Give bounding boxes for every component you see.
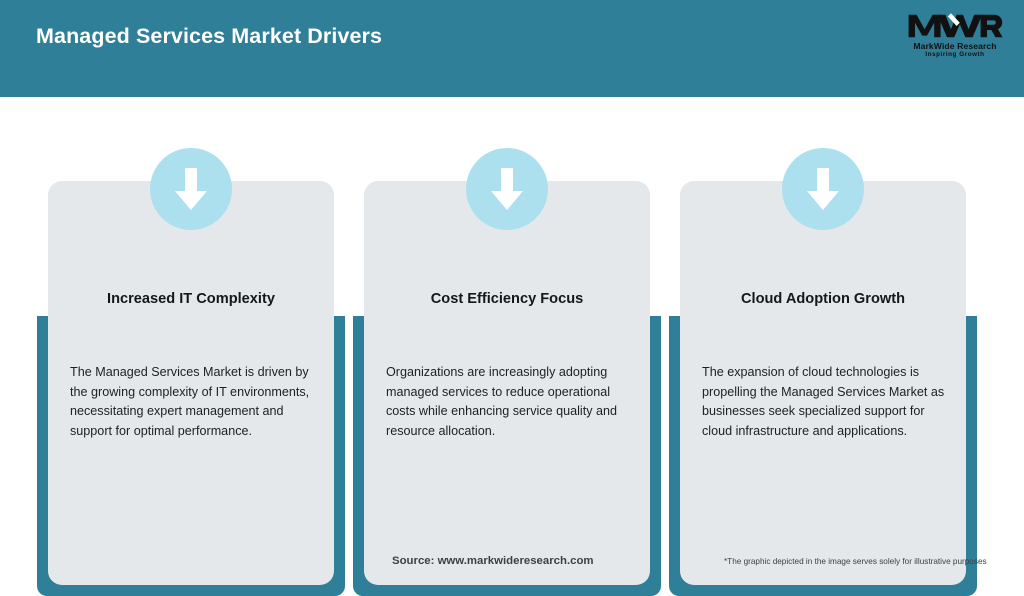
footer-disclaimer: *The graphic depicted in the image serve… [724, 557, 987, 566]
footer-source: Source: www.markwideresearch.com [392, 555, 594, 567]
card-title: Increased IT Complexity [64, 290, 318, 308]
down-arrow-icon [466, 148, 548, 230]
card-panel: Cloud Adoption Growth The expansion of c… [680, 181, 966, 585]
driver-card-3[interactable]: Cloud Adoption Growth The expansion of c… [669, 148, 977, 596]
card-body-text: The expansion of cloud technologies is p… [702, 363, 950, 441]
card-body-text: Organizations are increasingly adopting … [386, 363, 634, 441]
card-body-text: The Managed Services Market is driven by… [70, 363, 318, 441]
driver-card-2[interactable]: Cost Efficiency Focus Organizations are … [353, 148, 661, 596]
logo-tagline: Inspiring Growth [925, 51, 984, 59]
logo-company-name: MarkWide Research [913, 41, 996, 51]
card-title: Cloud Adoption Growth [696, 290, 950, 308]
down-arrow-glyph [804, 166, 842, 212]
driver-cards-container: Increased IT Complexity The Managed Serv… [0, 97, 1024, 576]
card-panel: Increased IT Complexity The Managed Serv… [48, 181, 334, 585]
card-panel: Cost Efficiency Focus Organizations are … [364, 181, 650, 585]
brand-logo: MarkWide Research Inspiring Growth [902, 11, 1008, 63]
down-arrow-glyph [488, 166, 526, 212]
down-arrow-icon [150, 148, 232, 230]
header-band: Managed Services Market Drivers MarkWide… [0, 0, 1024, 97]
down-arrow-glyph [172, 166, 210, 212]
page-title: Managed Services Market Drivers [36, 24, 382, 49]
driver-card-1[interactable]: Increased IT Complexity The Managed Serv… [37, 148, 345, 596]
card-title: Cost Efficiency Focus [380, 290, 634, 308]
down-arrow-icon [782, 148, 864, 230]
mwr-logo-icon [907, 11, 1003, 41]
